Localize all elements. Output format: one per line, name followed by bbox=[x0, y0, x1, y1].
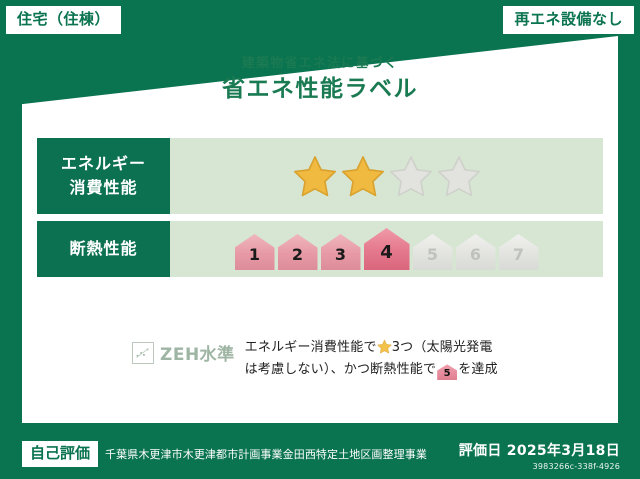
scatter-icon bbox=[132, 342, 154, 364]
zeh-mark: ZEH水準 bbox=[37, 334, 235, 365]
grade-number: 7 bbox=[513, 247, 524, 270]
star-icon bbox=[377, 339, 392, 354]
zeh-standard-block: ZEH水準 エネルギー消費性能で3つ（太陽光発電 は考慮しない）、かつ断熱性能で… bbox=[37, 334, 603, 382]
insulation-grade-1: 1 bbox=[235, 234, 275, 270]
grade-number: 5 bbox=[427, 247, 438, 270]
grade-number: 6 bbox=[470, 247, 481, 270]
insulation-grade-4: 4 bbox=[364, 228, 410, 270]
inline-grade-badge: 5 bbox=[437, 364, 457, 380]
star-rating bbox=[293, 154, 481, 198]
metric-value-insulation: 1234567 bbox=[170, 221, 603, 277]
grade-number: 1 bbox=[249, 247, 260, 270]
star-icon-empty bbox=[389, 154, 433, 198]
metric-row-energy-consumption: エネルギー 消費性能 bbox=[37, 138, 603, 214]
star-icon-empty bbox=[437, 154, 481, 198]
tag-renewable-energy: 再エネ設備なし bbox=[503, 6, 634, 34]
zeh-desc-part1: エネルギー消費性能で bbox=[245, 340, 377, 355]
grade-number: 2 bbox=[292, 247, 303, 270]
star-icon-filled bbox=[293, 154, 337, 198]
insulation-grade-6: 6 bbox=[456, 234, 496, 270]
insulation-grade-2: 2 bbox=[278, 234, 318, 270]
insulation-grade-7: 7 bbox=[499, 234, 539, 270]
metric-label-line1: エネルギー bbox=[61, 154, 146, 173]
evaluation-id: 3983266c-338f-4926 bbox=[459, 462, 620, 471]
energy-performance-label: 住宅（住棟） 再エネ設備なし 建築物省エネ法に基づく 省エネ性能ラベル エネルギ… bbox=[0, 0, 640, 479]
self-evaluation-badge: 自己評価 bbox=[22, 441, 98, 467]
footer-left-group: 自己評価 千葉県木更津市木更津都市計画事業金田西特定土地区画整理事業 bbox=[22, 441, 427, 467]
evaluation-date: 評価日 2025年3月18日 bbox=[459, 443, 620, 460]
insulation-grade-scale: 1234567 bbox=[235, 228, 539, 270]
footer-right-group: 評価日 2025年3月18日 3983266c-338f-4926 bbox=[459, 443, 620, 471]
tag-building-type: 住宅（住棟） bbox=[6, 6, 121, 34]
star-icon-filled bbox=[341, 154, 385, 198]
project-address: 千葉県木更津市木更津都市計画事業金田西特定土地区画整理事業 bbox=[105, 446, 427, 462]
metric-rows: エネルギー 消費性能 断熱性能 1234567 bbox=[37, 138, 603, 284]
metric-value-energy-consumption bbox=[170, 138, 603, 214]
grade-number: 4 bbox=[380, 244, 393, 270]
inline-grade-number: 5 bbox=[437, 364, 457, 384]
zeh-mark-label: ZEH水準 bbox=[160, 340, 235, 365]
metric-label-insulation: 断熱性能 bbox=[37, 221, 170, 277]
label-footer: 自己評価 千葉県木更津市木更津都市計画事業金田西特定土地区画整理事業 評価日 2… bbox=[0, 427, 640, 479]
zeh-desc-part4: を達成 bbox=[458, 362, 498, 377]
zeh-desc-part2: 3つ（太陽光発電 bbox=[392, 340, 493, 355]
grade-number: 3 bbox=[335, 247, 346, 270]
zeh-desc-part3: は考慮しない）、かつ断熱性能で bbox=[245, 362, 437, 377]
metric-label-energy-consumption: エネルギー 消費性能 bbox=[37, 138, 170, 214]
zeh-description: エネルギー消費性能で3つ（太陽光発電 は考慮しない）、かつ断熱性能で5を達成 bbox=[245, 334, 498, 382]
insulation-grade-3: 3 bbox=[321, 234, 361, 270]
insulation-grade-5: 5 bbox=[413, 234, 453, 270]
metric-row-insulation: 断熱性能 1234567 bbox=[37, 221, 603, 277]
metric-label-line2: 消費性能 bbox=[69, 178, 137, 197]
